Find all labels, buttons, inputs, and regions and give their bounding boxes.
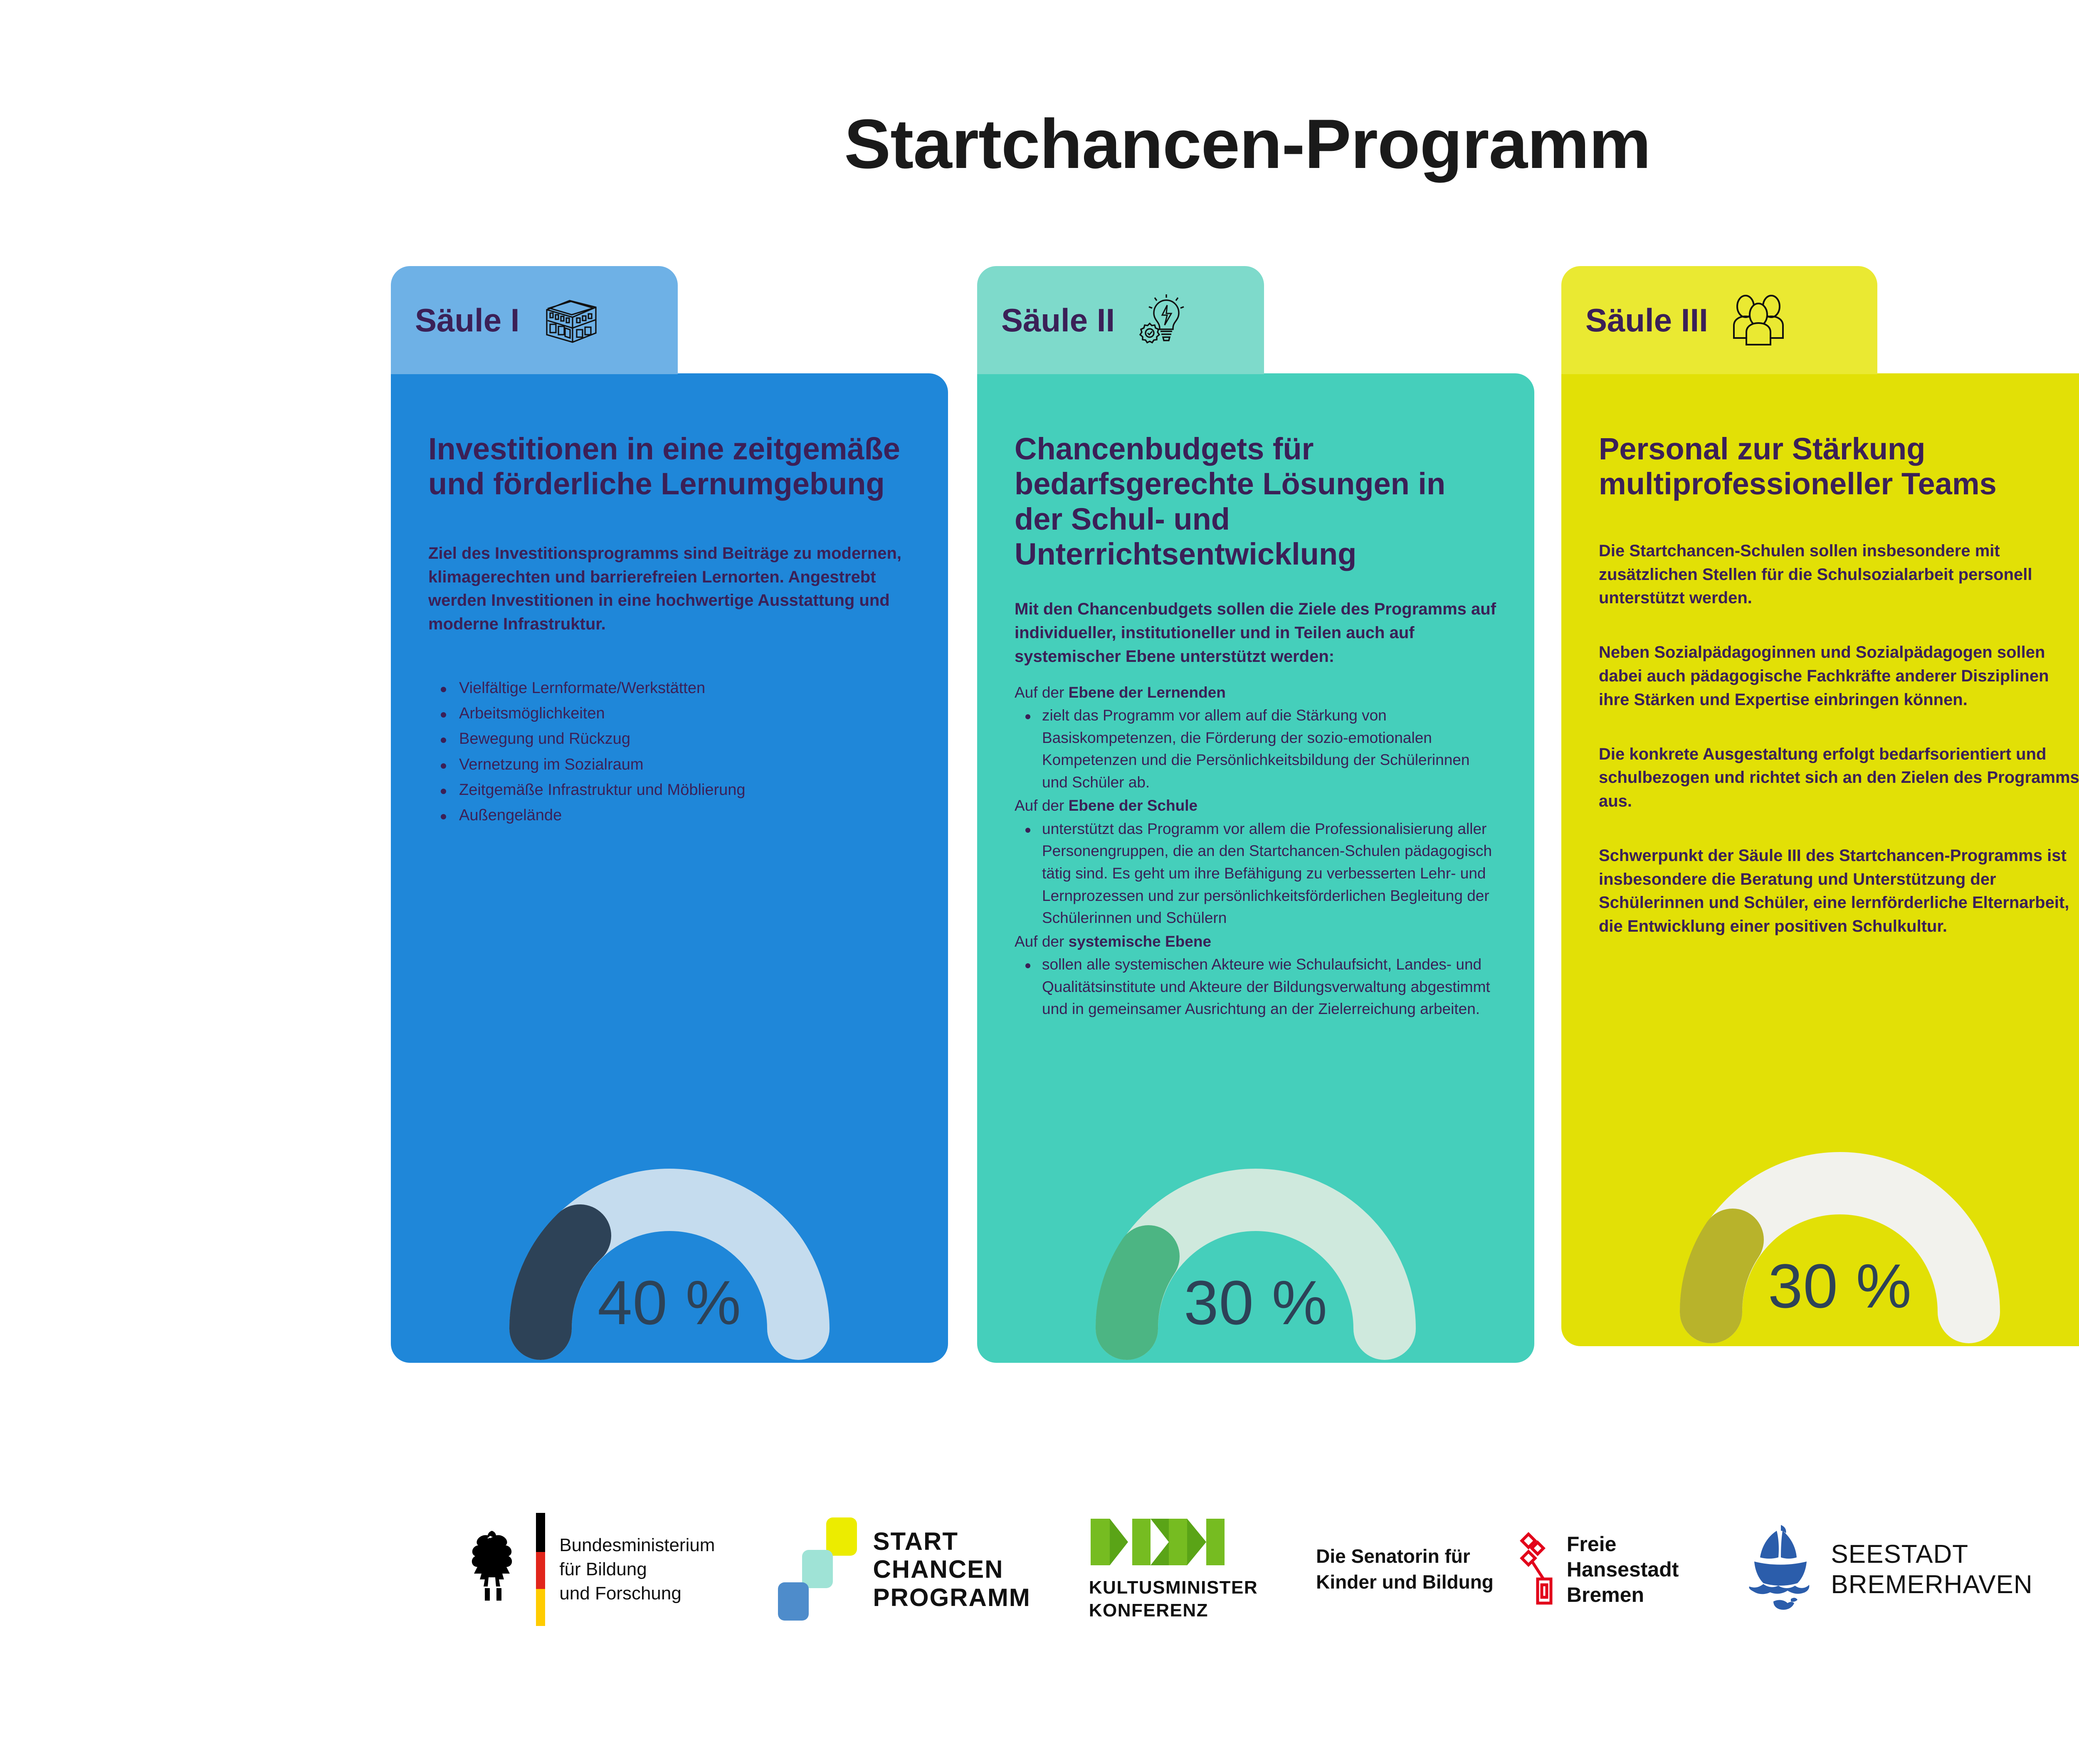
pillar-3-paragraph-3: Die konkrete Ausgestaltung erfolgt bedar… [1599,743,2079,813]
pillar-1-intro: Ziel des Investitionsprogramms sind Beit… [428,542,911,636]
pillar-3-gauge: 30 % [1644,1129,2035,1337]
bmbf-line-2: für Bildung [559,1557,715,1581]
pillar-2-intro: Mit den Chancenbudgets sollen die Ziele … [1015,597,1497,668]
bhv-line-2: BREMERHAVEN [1831,1569,2032,1600]
bremen-line-1: Freie [1567,1532,1679,1557]
level-list-systemisch: sollen alle systemischen Akteure wie Sch… [1015,953,1497,1020]
kmk-line-1: KULTUSMINISTER [1089,1576,1258,1599]
people-group-icon [1727,294,1790,346]
scp-line-3: PROGRAMM [873,1584,1030,1611]
square-blue [778,1582,809,1621]
pillar-2-tab-label: Säule II [1001,304,1115,336]
kmk-logo-text: KULTUSMINISTER KONFERENZ [1089,1576,1258,1622]
pillar-1-tab-label: Säule I [415,304,519,336]
german-flag-bar [536,1513,545,1626]
level-list-lernende: zielt das Programm vor allem auf die Stä… [1015,704,1497,794]
three-squares-icon [777,1517,860,1621]
level-strong: systemische Ebene [1069,933,1211,950]
level-strong: Ebene der Schule [1069,797,1198,814]
pillar-card-1: Säule I [391,266,948,1363]
list-item: Außengelände [459,803,911,828]
pillar-3-tab-label: Säule III [1585,304,1708,336]
bhv-line-1: SEESTADT [1831,1539,2032,1569]
list-item: Vernetzung im Sozialraum [459,752,911,777]
senatorin-kinder-bildung-logo: Die Senatorin für Kinder und Bildung [1316,1544,1494,1595]
list-item: Bewegung und Rückzug [459,727,911,751]
level-list-schule: unterstützt das Programm vor allem die P… [1015,818,1497,929]
pillar-2-gauge: 30 % [1060,1146,1451,1354]
bremen-line-3: Bremen [1567,1582,1679,1608]
startchancen-programm-logo: START CHANCEN PROGRAMM [777,1517,1030,1621]
infographic-page: Startchancen-Programm Säule I [0,0,2079,1764]
square-mint [802,1550,833,1588]
pillar-1-tab: Säule I [391,266,678,374]
bmbf-line-3: und Forschung [559,1581,715,1606]
level-strong: Ebene der Lernenden [1069,684,1226,701]
list-item: zielt das Programm vor allem auf die Stä… [1042,704,1497,794]
scp-line-2: CHANCEN [873,1555,1030,1583]
pillar-1-gauge-value: 40 % [474,1267,865,1339]
pillar-2-title: Chancenbudgets für bedarfsgerechte Lösun… [1015,432,1497,572]
level-prefix: Auf der [1015,933,1069,950]
bmbf-logo: Bundesministerium für Bildung und Forsch… [462,1513,715,1626]
pillar-3-paragraph-1: Die Startchancen-Schulen sollen insbeson… [1599,539,2079,610]
page-title: Startchancen-Programm [0,104,2079,184]
seestadt-bremerhaven-logo: SEESTADT BREMERHAVEN [1741,1522,2032,1617]
scp-line-1: START [873,1527,1030,1555]
pillar-2-gauge-value: 30 % [1060,1267,1451,1339]
square-yellow [826,1517,857,1556]
pillars-container: Säule I [0,266,2079,1414]
footer-logo-bar: Bundesministerium für Bildung und Forsch… [0,1480,2079,1659]
bremen-line-2: Hansestadt [1567,1557,1679,1582]
level-heading-systemisch: Auf der systemische Ebene [1015,932,1497,952]
bremen-key-icon [1516,1530,1556,1609]
list-item: Arbeitsmöglichkeiten [459,701,911,726]
senatorin-logo-text: Die Senatorin für Kinder und Bildung [1316,1544,1494,1595]
level-prefix: Auf der [1015,797,1069,814]
pillar-card-2: Säule II [977,266,1534,1363]
pillar-2-tab: Säule II [977,266,1264,374]
pillar-3-paragraph-4: Schwerpunkt der Säule III des Startchanc… [1599,844,2079,938]
list-item: unterstützt das Programm vor allem die P… [1042,818,1497,929]
startchancen-logo-text: START CHANCEN PROGRAMM [873,1527,1030,1611]
senat-line-2: Kinder und Bildung [1316,1569,1494,1595]
kmk-line-2: KONFERENZ [1089,1599,1258,1622]
senat-line-1: Die Senatorin für [1316,1544,1494,1569]
pillar-1-title: Investitionen in eine zeitgemäße und för… [428,432,911,502]
level-prefix: Auf der [1015,684,1069,701]
freie-hansestadt-bremen-logo: Freie Hansestadt Bremen [1516,1530,1679,1609]
pillar-3-paragraph-2: Neben Sozialpädagoginnen und Sozialpädag… [1599,641,2079,711]
sailing-ship-icon [1741,1522,1820,1617]
pillar-card-3: Säule III Personal zur Stärkung multipro… [1561,266,2079,1346]
pillar-1-bullet-list: Vielfältige Lernformate/Werkstätten Arbe… [428,676,911,828]
pillar-3-tab: Säule III [1561,266,1877,374]
pillar-3-body: Personal zur Stärkung multiprofessionell… [1561,373,2079,1346]
bmbf-line-1: Bundesministerium [559,1533,715,1557]
pillar-3-gauge-value: 30 % [1644,1250,2035,1322]
list-item: sollen alle systemischen Akteure wie Sch… [1042,953,1497,1020]
list-item: Zeitgemäße Infrastruktur und Möblierung [459,778,911,802]
level-heading-schule: Auf der Ebene der Schule [1015,796,1497,816]
pillar-3-title: Personal zur Stärkung multiprofessionell… [1599,432,2079,502]
lightbulb-gear-icon [1134,293,1189,348]
level-heading-lernende: Auf der Ebene der Lernenden [1015,683,1497,703]
pillar-1-body: Investitionen in eine zeitgemäße und för… [391,373,948,1363]
pillar-2-body: Chancenbudgets für bedarfsgerechte Lösun… [977,373,1534,1363]
bmbf-logo-text: Bundesministerium für Bildung und Forsch… [559,1533,715,1606]
kmk-logo: KULTUSMINISTER KONFERENZ [1089,1517,1258,1622]
bremerhaven-logo-text: SEESTADT BREMERHAVEN [1831,1539,2032,1600]
list-item: Vielfältige Lernformate/Werkstätten [459,676,911,701]
federal-eagle-icon [462,1526,524,1613]
bremen-logo-text: Freie Hansestadt Bremen [1567,1532,1679,1608]
kmk-mark-icon [1089,1517,1226,1567]
pillar-1-gauge: 40 % [474,1146,865,1354]
school-building-icon [538,293,601,347]
